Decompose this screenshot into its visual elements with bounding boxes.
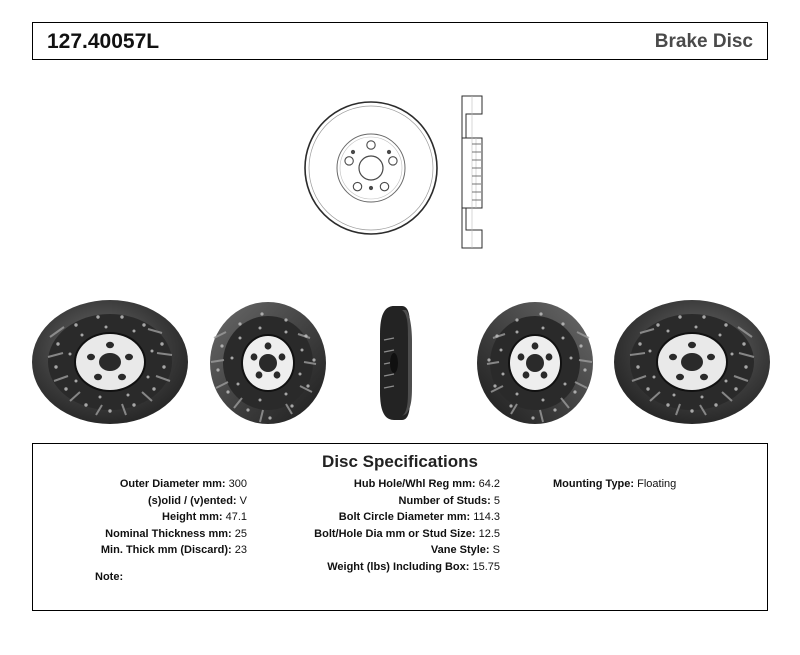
spec-row: (s)olid / (v)ented: V	[33, 493, 247, 510]
spec-label: Min. Thick mm (Discard):	[101, 544, 235, 556]
spec-row: Weight (lbs) Including Box: 15.75	[255, 559, 500, 576]
spec-value: 47.1	[226, 511, 247, 523]
spec-label: Height mm:	[162, 511, 226, 523]
spec-row: Height mm: 47.1	[33, 509, 247, 526]
note-label: Note:	[95, 571, 123, 583]
spec-label: Mounting Type:	[553, 478, 637, 490]
spec-value: S	[493, 544, 500, 556]
spec-label: Bolt/Hole Dia mm or Stud Size:	[314, 528, 478, 540]
rotor-drilled-slotted-side-right	[475, 300, 605, 426]
spec-value: 12.5	[479, 528, 500, 540]
spec-row: Bolt Circle Diameter mm: 114.3	[255, 509, 500, 526]
disc-specifications-panel: Disc Specifications Outer Diameter mm: 3…	[32, 443, 768, 611]
spec-label: (s)olid / (v)ented:	[148, 495, 240, 507]
specs-left-column: Outer Diameter mm: 300 (s)olid / (v)ente…	[33, 476, 247, 559]
spec-value: V	[240, 495, 247, 507]
spec-row: Min. Thick mm (Discard): 23	[33, 542, 247, 559]
specs-right-column: Mounting Type: Floating	[553, 476, 773, 493]
spec-label: Weight (lbs) Including Box:	[327, 561, 472, 573]
note-row: Note:	[95, 571, 123, 583]
spec-value: 15.75	[472, 561, 500, 573]
spec-value: 25	[235, 528, 247, 540]
spec-label: Vane Style:	[431, 544, 493, 556]
spec-value: 23	[235, 544, 247, 556]
spec-value: 64.2	[479, 478, 500, 490]
rotor-drilled-slotted-angled-left	[30, 297, 190, 427]
spec-row: Bolt/Hole Dia mm or Stud Size: 12.5	[255, 526, 500, 543]
spec-row: Number of Studs: 5	[255, 493, 500, 510]
rotor-edge-profile-view	[372, 304, 428, 422]
specs-title: Disc Specifications	[33, 452, 767, 472]
spec-row: Vane Style: S	[255, 542, 500, 559]
spec-label: Number of Studs:	[399, 495, 494, 507]
spec-row: Mounting Type: Floating	[553, 476, 773, 493]
spec-label: Outer Diameter mm:	[120, 478, 229, 490]
brake-disc-spec-sheet: 127.40057L Brake Disc	[0, 0, 800, 655]
spec-row: Hub Hole/Whl Reg mm: 64.2	[255, 476, 500, 493]
spec-value: 5	[494, 495, 500, 507]
spec-row: Outer Diameter mm: 300	[33, 476, 247, 493]
header-bar: 127.40057L Brake Disc	[32, 22, 768, 60]
part-number: 127.40057L	[47, 30, 159, 54]
rotor-face-outline-view	[303, 100, 439, 236]
spec-label: Hub Hole/Whl Reg mm:	[354, 478, 479, 490]
drawing-area	[0, 62, 800, 434]
spec-label: Bolt Circle Diameter mm:	[339, 511, 473, 523]
rotor-drilled-slotted-angled-right	[612, 297, 772, 427]
page-title: Brake Disc	[655, 31, 753, 53]
specs-middle-column: Hub Hole/Whl Reg mm: 64.2 Number of Stud…	[255, 476, 500, 575]
spec-value: 114.3	[473, 511, 500, 523]
spec-label: Nominal Thickness mm:	[105, 528, 235, 540]
spec-value: Floating	[637, 478, 676, 490]
rotor-cross-section-view	[452, 90, 492, 252]
spec-row: Nominal Thickness mm: 25	[33, 526, 247, 543]
rotor-drilled-slotted-side-left	[198, 300, 328, 426]
spec-value: 300	[229, 478, 247, 490]
